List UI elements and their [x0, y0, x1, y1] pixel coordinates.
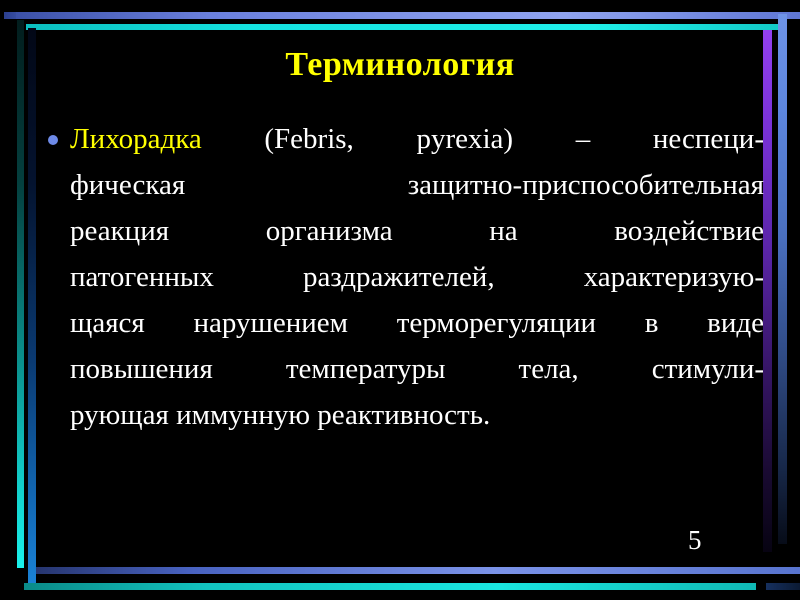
bullet-list-item: Лихорадка (Febris, pyrexia) – неспеци- ф… — [48, 116, 764, 438]
line-1-word-3: pyrexia) — [416, 116, 513, 162]
frame-top-blue-bar — [16, 12, 800, 19]
line-2-word-1: фическая — [70, 162, 185, 208]
line-1-word-2: (Febris, — [264, 116, 353, 162]
frame-left-cyan-bar — [17, 20, 24, 568]
line-3-word-3: на — [489, 208, 517, 254]
line-1-word-5: неспеци- — [653, 116, 764, 162]
frame-right-blue-bar — [778, 14, 787, 544]
text-line-4: патогенных раздражителей, характеризую- — [70, 254, 764, 300]
term-keyword: Лихорадка — [70, 116, 202, 162]
frame-bottom-blue-bar — [36, 567, 800, 574]
frame-left-blue-bar — [28, 28, 36, 584]
line-2-word-2: защитно-приспособительная — [408, 162, 764, 208]
line-6-word-3: тела, — [519, 346, 579, 392]
text-line-5: щаяся нарушением терморегуляции в виде — [70, 300, 764, 346]
text-line-7: рующая иммунную реактивность. — [70, 392, 764, 438]
line-6-word-4: стимули- — [652, 346, 764, 392]
line-1-word-4: – — [576, 116, 591, 162]
line-5-word-5: виде — [707, 300, 764, 346]
frame-top-cyan-bar — [26, 24, 782, 30]
slide-title: Терминология — [60, 46, 740, 83]
line-5-word-4: в — [645, 300, 659, 346]
line-4-word-1: патогенных — [70, 254, 214, 300]
page-number: 5 — [688, 527, 702, 554]
line-6-word-2: температуры — [286, 346, 446, 392]
text-line-1: Лихорадка (Febris, pyrexia) – неспеци- — [70, 116, 764, 162]
slide-body: Лихорадка (Febris, pyrexia) – неспеци- ф… — [48, 116, 764, 438]
line-5-word-3: терморегуляции — [397, 300, 596, 346]
text-line-3: реакция организма на воздействие — [70, 208, 764, 254]
line-3-word-4: воздействие — [614, 208, 764, 254]
text-line-6: повышения температуры тела, стимули- — [70, 346, 764, 392]
presentation-slide: Терминология Лихорадка (Febris, pyrexia)… — [0, 0, 800, 600]
line-5-word-2: нарушением — [193, 300, 347, 346]
line-4-word-2: раздражителей, — [303, 254, 495, 300]
frame-bottom-cyan-bar — [24, 583, 756, 590]
text-line-2: фическая защитно-приспособительная — [70, 162, 764, 208]
frame-bottom-right-stub — [766, 583, 800, 590]
line-5-word-1: щаяся — [70, 300, 145, 346]
line-4-word-3: характеризую- — [584, 254, 764, 300]
bullet-dot-icon — [48, 135, 58, 145]
line-3-word-1: реакция — [70, 208, 169, 254]
definition-paragraph: Лихорадка (Febris, pyrexia) – неспеци- ф… — [70, 116, 764, 438]
line-6-word-1: повышения — [70, 346, 213, 392]
line-3-word-2: организма — [266, 208, 393, 254]
frame-right-purple-bar — [763, 30, 772, 552]
